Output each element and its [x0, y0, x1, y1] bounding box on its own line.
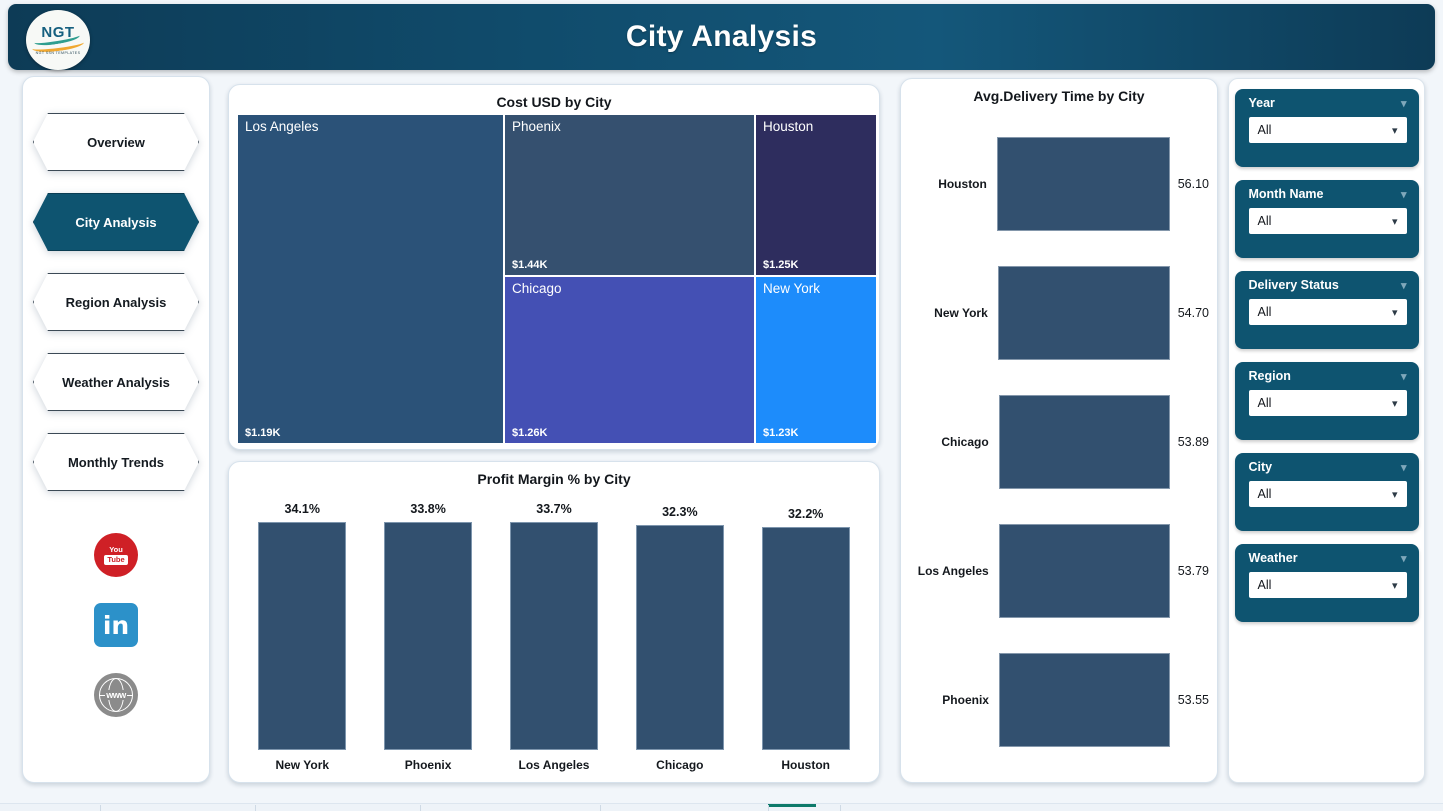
- hbar-value-label: 53.55: [1170, 693, 1209, 707]
- chevron-down-icon[interactable]: ▾: [1392, 215, 1398, 228]
- treemap-tile-value: $1.44K: [512, 259, 547, 271]
- column-bar[interactable]: [258, 522, 346, 750]
- youtube-glyph: You Tube: [103, 543, 129, 567]
- hbar-category-label: Phoenix: [909, 693, 999, 707]
- treemap-tile-houston[interactable]: Houston $1.25K: [756, 115, 876, 275]
- hbar-category-label: Chicago: [909, 435, 999, 449]
- treemap-tile-label: Chicago: [512, 281, 562, 296]
- treemap-tile-value: $1.23K: [763, 427, 798, 439]
- slicer-city: City▾All▾: [1235, 453, 1419, 531]
- nav-wrap-overview: Overview: [23, 113, 209, 171]
- hbar-category-label: New York: [909, 306, 998, 320]
- slicer-month-name: Month Name▾All▾: [1235, 180, 1419, 258]
- chevron-down-icon[interactable]: ▾: [1401, 188, 1407, 201]
- column-group: 34.1%New York: [247, 502, 358, 772]
- chevron-down-icon[interactable]: ▾: [1392, 579, 1398, 592]
- column-bar[interactable]: [384, 522, 472, 750]
- column-value-label: 32.3%: [662, 505, 697, 519]
- slicer-value: All: [1258, 578, 1272, 592]
- nav-wrap-region-analysis: Region Analysis: [23, 273, 209, 331]
- treemap-tile-phoenix[interactable]: Phoenix $1.44K: [505, 115, 754, 275]
- slicer-label: Weather: [1249, 551, 1298, 565]
- slicer-dropdown[interactable]: All▾: [1249, 572, 1407, 598]
- slicer-value: All: [1258, 214, 1272, 228]
- hbar-row: Los Angeles53.79: [909, 524, 1209, 618]
- hbar-row: Houston56.10: [909, 137, 1209, 231]
- slicer-value: All: [1258, 305, 1272, 319]
- slicer-value: All: [1258, 487, 1272, 501]
- slicer-label: Month Name: [1249, 187, 1324, 201]
- hbar-value-label: 53.89: [1170, 435, 1209, 449]
- hbar-bar[interactable]: [999, 653, 1170, 747]
- column-value-label: 33.8%: [410, 502, 445, 516]
- hbar-row: Chicago53.89: [909, 395, 1209, 489]
- page-tab-tick[interactable]: [600, 805, 601, 811]
- hbar-bar[interactable]: [999, 395, 1170, 489]
- nav-wrap-city-analysis: City Analysis: [23, 193, 209, 251]
- logo-tagline: NGT SSN TEMPLATES: [36, 51, 81, 55]
- treemap-tile-value: $1.26K: [512, 427, 547, 439]
- slicer-delivery-status: Delivery Status▾All▾: [1235, 271, 1419, 349]
- page-tab-bar: [0, 803, 1443, 811]
- treemap-tile-label: Houston: [763, 119, 813, 134]
- sidebar-item-weather-analysis[interactable]: Weather Analysis: [33, 353, 199, 411]
- treemap-tile-los-angeles[interactable]: Los Angeles $1.19K: [238, 115, 503, 443]
- hbar-bar[interactable]: [999, 524, 1170, 618]
- chevron-down-icon[interactable]: ▾: [1392, 488, 1398, 501]
- social-links: You Tube in www: [23, 533, 209, 717]
- slicer-header: Delivery Status▾: [1249, 278, 1407, 292]
- logo-text: NGT: [41, 25, 74, 40]
- column-value-label: 32.2%: [788, 507, 823, 521]
- column-bar[interactable]: [636, 525, 724, 750]
- dashboard-page: NGT NGT SSN TEMPLATES City Analysis Over…: [0, 0, 1443, 811]
- treemap-tile-value: $1.25K: [763, 259, 798, 271]
- column-group: 33.8%Phoenix: [373, 502, 484, 772]
- sidebar-nav: Overview City Analysis Region Analysis W…: [22, 76, 210, 783]
- chevron-down-icon[interactable]: ▾: [1401, 461, 1407, 474]
- treemap-plot: Phoenix $1.44K Houston $1.25K Los Angele…: [238, 115, 872, 441]
- slicer-label: City: [1249, 460, 1273, 474]
- treemap-tile-label: Los Angeles: [245, 119, 319, 134]
- slicer-header: Weather▾: [1249, 551, 1407, 565]
- slicer-value: All: [1258, 396, 1272, 410]
- column-value-label: 33.7%: [536, 502, 571, 516]
- treemap-tile-chicago[interactable]: Chicago $1.26K: [505, 277, 754, 443]
- sidebar-item-city-analysis[interactable]: City Analysis: [33, 193, 199, 251]
- sidebar-item-overview[interactable]: Overview: [33, 113, 199, 171]
- hbar-value-label: 54.70: [1170, 306, 1209, 320]
- youtube-you-text: You: [109, 545, 123, 554]
- profit-margin-plot: 34.1%New York33.8%Phoenix33.7%Los Angele…: [247, 502, 861, 772]
- slicer-label: Region: [1249, 369, 1291, 383]
- slicer-region: Region▾All▾: [1235, 362, 1419, 440]
- slicer-dropdown[interactable]: All▾: [1249, 208, 1407, 234]
- column-category-label: Phoenix: [405, 758, 452, 772]
- sidebar-item-region-analysis[interactable]: Region Analysis: [33, 273, 199, 331]
- hbar-bar[interactable]: [997, 137, 1170, 231]
- slicer-label: Year: [1249, 96, 1275, 110]
- slicer-dropdown[interactable]: All▾: [1249, 299, 1407, 325]
- profit-margin-title: Profit Margin % by City: [229, 462, 879, 487]
- column-bar[interactable]: [510, 522, 598, 750]
- slicer-label: Delivery Status: [1249, 278, 1339, 292]
- slicer-dropdown[interactable]: All▾: [1249, 390, 1407, 416]
- treemap-title: Cost USD by City: [229, 85, 879, 110]
- slicer-header: Month Name▾: [1249, 187, 1407, 201]
- chevron-down-icon[interactable]: ▾: [1392, 124, 1398, 137]
- treemap-tile-value: $1.19K: [245, 427, 280, 439]
- slicer-header: Year▾: [1249, 96, 1407, 110]
- hbar-category-label: Houston: [909, 177, 997, 191]
- hbar-value-label: 53.79: [1170, 564, 1209, 578]
- delivery-time-card: Avg.Delivery Time by City Houston56.10Ne…: [900, 78, 1218, 783]
- chevron-down-icon[interactable]: ▾: [1401, 279, 1407, 292]
- page-tab-tick[interactable]: [768, 805, 769, 811]
- chevron-down-icon[interactable]: ▾: [1401, 370, 1407, 383]
- slicer-header: Region▾: [1249, 369, 1407, 383]
- page-tab-tick[interactable]: [255, 805, 256, 811]
- page-tab-tick[interactable]: [100, 805, 101, 811]
- nav-wrap-monthly-trends: Monthly Trends: [23, 433, 209, 491]
- youtube-icon[interactable]: You Tube: [94, 533, 138, 577]
- hbar-row: New York54.70: [909, 266, 1209, 360]
- cost-treemap-card: Cost USD by City Phoenix $1.44K Houston …: [228, 84, 880, 450]
- chevron-down-icon[interactable]: ▾: [1392, 306, 1398, 319]
- hbar-value-label: 56.10: [1170, 177, 1209, 191]
- website-icon[interactable]: www: [94, 673, 138, 717]
- chevron-down-icon[interactable]: ▾: [1392, 397, 1398, 410]
- hbar-category-label: Los Angeles: [909, 564, 999, 578]
- hbar-row: Phoenix53.55: [909, 653, 1209, 747]
- delivery-time-plot: Houston56.10New York54.70Chicago53.89Los…: [909, 119, 1209, 764]
- column-group: 32.3%Chicago: [625, 502, 736, 772]
- slicer-year: Year▾All▾: [1235, 89, 1419, 167]
- page-tab-tick[interactable]: [420, 805, 421, 811]
- column-category-label: Chicago: [656, 758, 703, 772]
- linkedin-icon[interactable]: in: [94, 603, 138, 647]
- website-label: www: [105, 690, 127, 700]
- sidebar-item-monthly-trends[interactable]: Monthly Trends: [33, 433, 199, 491]
- column-category-label: Houston: [781, 758, 830, 772]
- page-title: City Analysis: [8, 20, 1435, 54]
- treemap-tile-new-york[interactable]: New York $1.23K: [756, 277, 876, 443]
- active-page-indicator: [768, 804, 816, 807]
- column-group: 32.2%Houston: [750, 502, 861, 772]
- chevron-down-icon[interactable]: ▾: [1401, 97, 1407, 110]
- hbar-bar[interactable]: [998, 266, 1170, 360]
- slicer-dropdown[interactable]: All▾: [1249, 481, 1407, 507]
- column-value-label: 34.1%: [285, 502, 320, 516]
- column-category-label: Los Angeles: [519, 758, 590, 772]
- treemap-tile-label: New York: [763, 281, 820, 296]
- nav-wrap-weather-analysis: Weather Analysis: [23, 353, 209, 411]
- page-tab-tick[interactable]: [840, 805, 841, 811]
- ngt-logo: NGT NGT SSN TEMPLATES: [26, 10, 90, 70]
- youtube-tube-text: Tube: [104, 555, 127, 565]
- column-category-label: New York: [275, 758, 329, 772]
- slicer-dropdown[interactable]: All▾: [1249, 117, 1407, 143]
- chevron-down-icon[interactable]: ▾: [1401, 552, 1407, 565]
- slicer-header: City▾: [1249, 460, 1407, 474]
- delivery-time-title: Avg.Delivery Time by City: [901, 79, 1217, 104]
- slicer-value: All: [1258, 123, 1272, 137]
- app-header: NGT NGT SSN TEMPLATES City Analysis: [8, 4, 1435, 70]
- profit-margin-card: Profit Margin % by City 34.1%New York33.…: [228, 461, 880, 783]
- treemap-tile-label: Phoenix: [512, 119, 561, 134]
- filter-panel: Year▾All▾Month Name▾All▾Delivery Status▾…: [1228, 78, 1425, 783]
- slicer-weather: Weather▾All▾: [1235, 544, 1419, 622]
- column-bar[interactable]: [762, 527, 850, 750]
- column-group: 33.7%Los Angeles: [499, 502, 610, 772]
